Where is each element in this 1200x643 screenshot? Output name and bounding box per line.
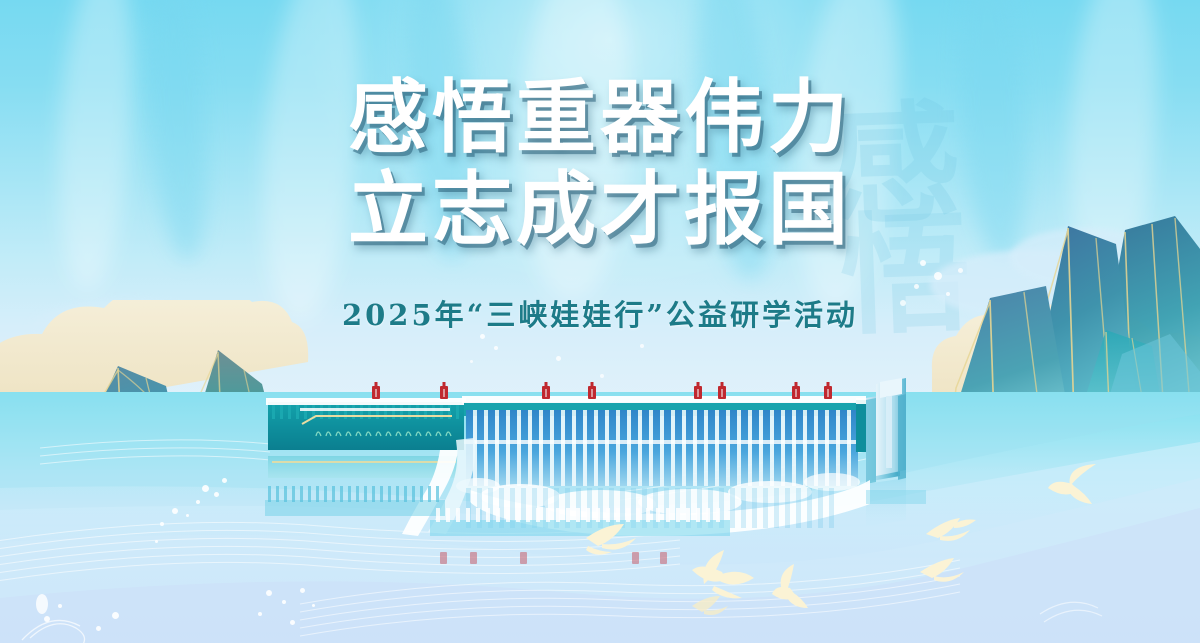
swallow-bird [924,516,980,556]
bubble [958,268,963,273]
bubble [112,612,119,619]
subtitle: 2025年“三峡娃娃行”公益研学活动 [0,292,1200,334]
bubble [96,626,101,631]
bubble [58,604,62,608]
bubble [920,260,926,266]
bubble [196,500,200,504]
bubble [155,540,158,543]
bubble [266,590,272,596]
bubble [36,594,48,614]
bubble [160,522,164,526]
bubble [470,360,473,363]
bubble [202,485,209,492]
bubble [914,284,919,289]
dam-reflection-left [265,486,445,516]
bubble [480,334,485,339]
dam-spillway [462,396,866,486]
bubble [44,616,50,622]
bubble [222,478,227,483]
bubble [300,588,305,593]
bubble [290,620,295,625]
bubble [640,344,644,348]
swallow-bird [584,522,646,560]
swallow-bird [690,592,734,626]
swallow-bird [1046,460,1102,504]
bubble [282,600,286,604]
banner-root: 感 悟 [0,0,1200,643]
bubble [312,604,315,607]
bubble [186,514,189,517]
bubble [258,612,262,616]
bubble [494,346,498,350]
bubble [172,508,178,514]
dam-reflection-right [866,490,926,504]
bubble [556,356,561,361]
dam-left-wing [266,398,466,478]
swallow-bird [770,562,812,614]
bubble [600,374,604,378]
swallow-bird [916,556,968,594]
bubble [934,272,942,280]
bubble [214,492,219,497]
